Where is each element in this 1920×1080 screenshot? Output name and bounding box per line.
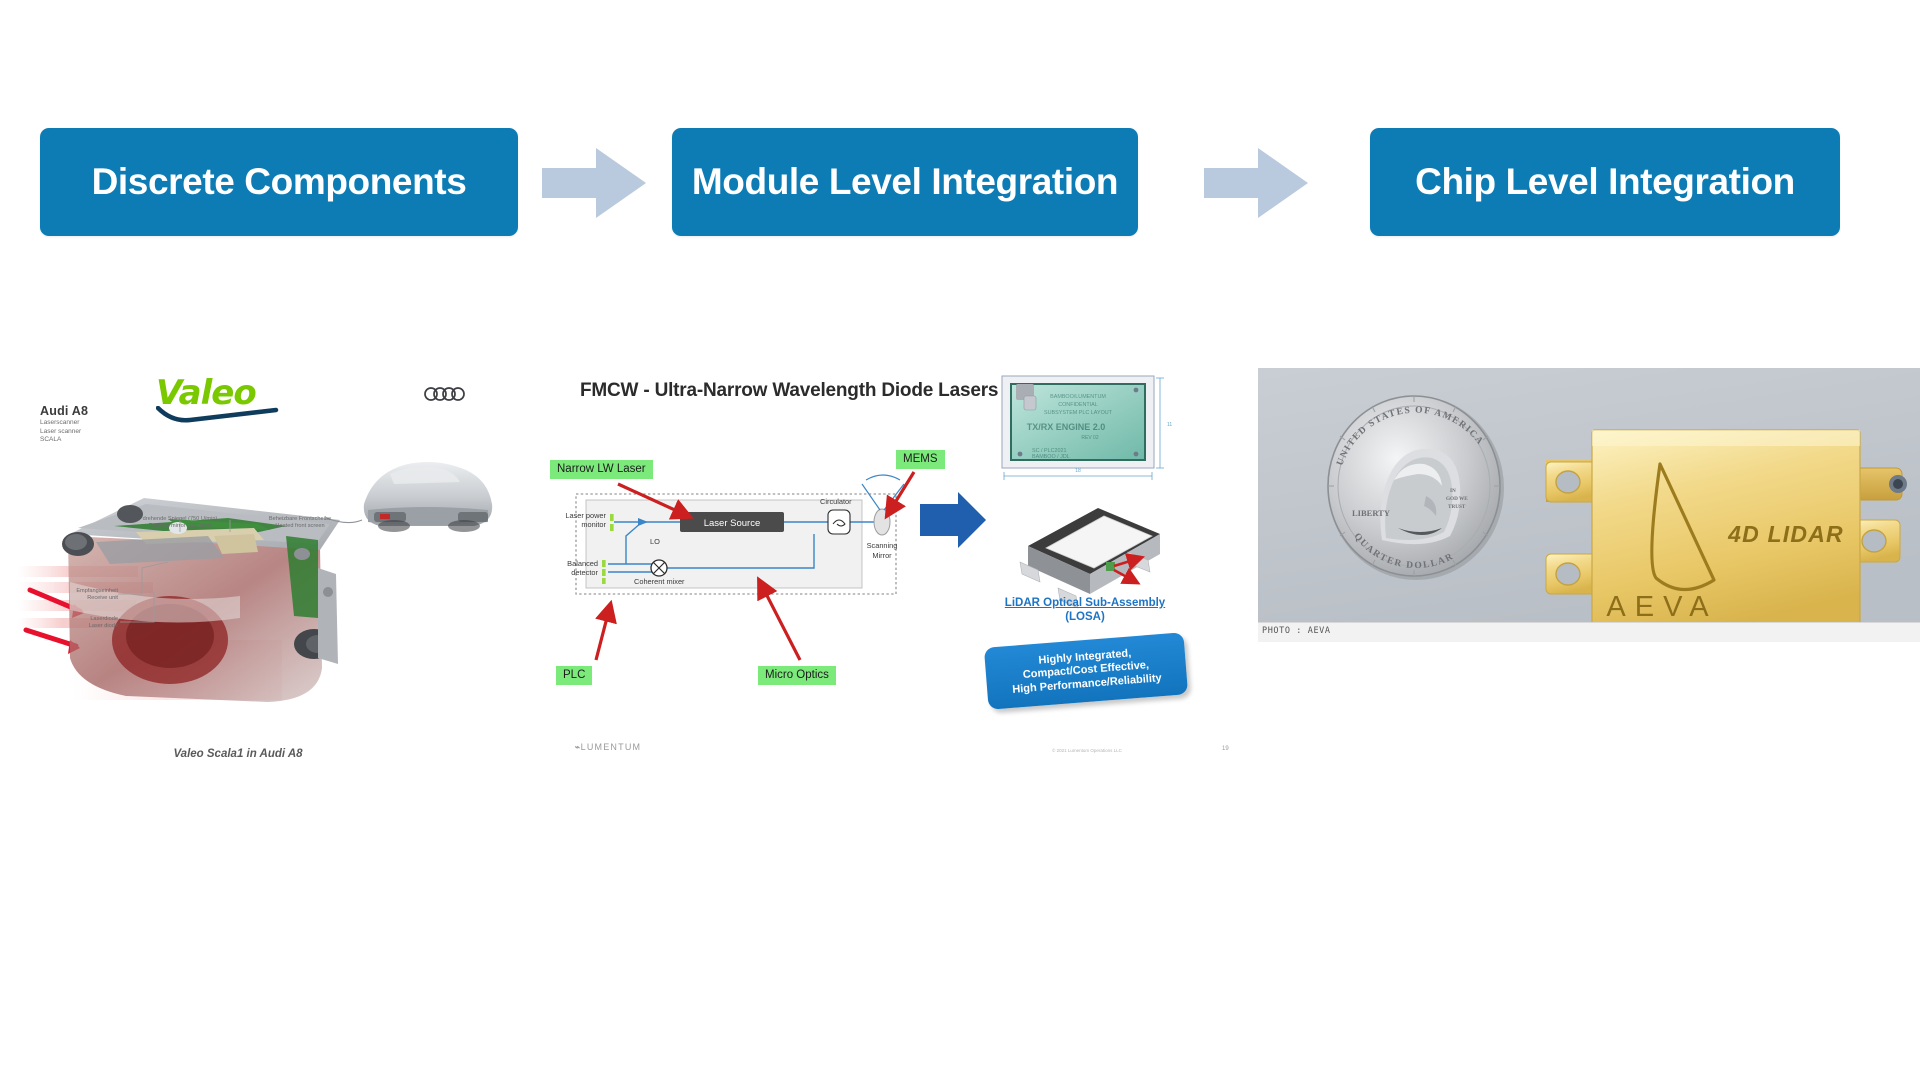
stage-label-discrete-components: Discrete Components — [76, 161, 483, 203]
stage-label-module-level-integration: Module Level Integration — [676, 161, 1134, 203]
audi-rings-icon — [424, 386, 468, 402]
panel-chip-level-integration-image: UNITED STATES OF AMERICA QUARTER DOLLAR … — [1258, 368, 1920, 622]
tag-narrow-lw-laser: Narrow LW Laser — [550, 460, 653, 479]
product-title: Audi A8 — [40, 404, 88, 418]
tag-plc: PLC — [556, 666, 592, 685]
stage-box-module-level-integration[interactable]: Module Level Integration — [672, 128, 1138, 236]
callout-receive-unit: Empfangseinheit Receive unit — [46, 588, 118, 603]
chip-brand-text: AEVA — [1606, 591, 1717, 622]
stage-box-chip-level-integration[interactable]: Chip Level Integration — [1370, 128, 1840, 236]
callout-heated-front-screen: Beheizbare Frontscheibe Heated front scr… — [250, 516, 350, 531]
svg-text:LO: LO — [650, 537, 660, 546]
svg-text:TRUST: TRUST — [1448, 504, 1466, 510]
svg-text:18: 18 — [1075, 468, 1081, 474]
fmcw-block-diagram: Laser Source — [562, 368, 1262, 788]
svg-text:TX/RX ENGINE 2.0: TX/RX ENGINE 2.0 — [1027, 422, 1106, 432]
aeva-4d-lidar-chip-photo: UNITED STATES OF AMERICA QUARTER DOLLAR … — [1258, 368, 1920, 622]
losa-caption: LiDAR Optical Sub-Assembly (LOSA) — [960, 596, 1210, 624]
chip-product-text: 4D LIDAR — [1727, 521, 1844, 547]
stage-box-discrete-components[interactable]: Discrete Components — [40, 128, 518, 236]
svg-text:11: 11 — [1167, 422, 1172, 428]
valeo-swoosh-icon — [156, 406, 280, 424]
slide-copyright: © 2021 Lumentum Operations LLC — [1052, 748, 1122, 753]
svg-text:GOD WE: GOD WE — [1446, 496, 1468, 502]
panel-module-level-integration-image: FMCW - Ultra-Narrow Wavelength Diode Las… — [562, 368, 1262, 788]
svg-text:REV 02: REV 02 — [1081, 435, 1098, 441]
lumentum-logo: ⌁LUMENTUM — [574, 742, 641, 753]
value-proposition-text: Highly Integrated, Compact/Cost Effectiv… — [1004, 644, 1168, 697]
svg-text:BAMBOO / JDL: BAMBOO / JDL — [1032, 454, 1070, 460]
slide-page-number: 19 — [1222, 746, 1229, 752]
svg-text:Mirror: Mirror — [872, 551, 892, 560]
valeo-image-caption: Valeo Scala1 in Audi A8 — [18, 748, 458, 760]
arrow-right-icon — [540, 146, 648, 220]
svg-text:monitor: monitor — [581, 520, 606, 529]
tag-micro-optics: Micro Optics — [758, 666, 836, 685]
stage-flow-header: Discrete Components Module Level Integra… — [0, 128, 1920, 238]
product-subtitle: Laserscanner Laser scanner SCALA — [40, 419, 150, 445]
svg-text:Coherent mixer: Coherent mixer — [634, 577, 685, 586]
svg-text:Laser Source: Laser Source — [704, 518, 761, 529]
svg-text:Balanced: Balanced — [567, 559, 598, 568]
photo-credit-text: PHOTO : AEVA — [1262, 626, 1331, 636]
panel-discrete-components-image: Valeo Audi A8 Laserscanner Laser scanner… — [18, 368, 518, 788]
valeo-wordmark: Valeo — [156, 376, 286, 410]
stage-label-chip-level-integration: Chip Level Integration — [1399, 161, 1811, 203]
losa-caption-line1: LiDAR Optical Sub-Assembly — [1005, 597, 1165, 609]
svg-text:Circulator: Circulator — [820, 497, 852, 506]
losa-caption-line2: (LOSA) — [1065, 611, 1105, 623]
lumentum-wordmark: LUMENTUM — [581, 742, 642, 752]
tag-mems: MEMS — [896, 450, 945, 469]
svg-text:BAMBOO/LUMENTUM: BAMBOO/LUMENTUM — [1050, 394, 1106, 400]
svg-text:Laser power: Laser power — [565, 511, 606, 520]
svg-text:SUBSYSTEM PLC LAYOUT: SUBSYSTEM PLC LAYOUT — [1044, 410, 1113, 416]
photo-credit-bar: PHOTO : AEVA — [1258, 622, 1920, 642]
valeo-logo: Valeo — [156, 376, 286, 424]
svg-text:IN: IN — [1450, 488, 1456, 494]
arrow-right-icon-2 — [1202, 146, 1310, 220]
callout-laser-diode: Laserdiode Laser diode — [42, 616, 118, 631]
svg-text:CONFIDENTIAL: CONFIDENTIAL — [1058, 402, 1098, 408]
svg-text:Scanning: Scanning — [867, 541, 898, 550]
svg-text:LIBERTY: LIBERTY — [1352, 508, 1390, 518]
callout-rotating-mirror: drehende Spiegel (750 U/min) Rotating mi… — [126, 516, 234, 531]
svg-text:detector: detector — [571, 568, 598, 577]
